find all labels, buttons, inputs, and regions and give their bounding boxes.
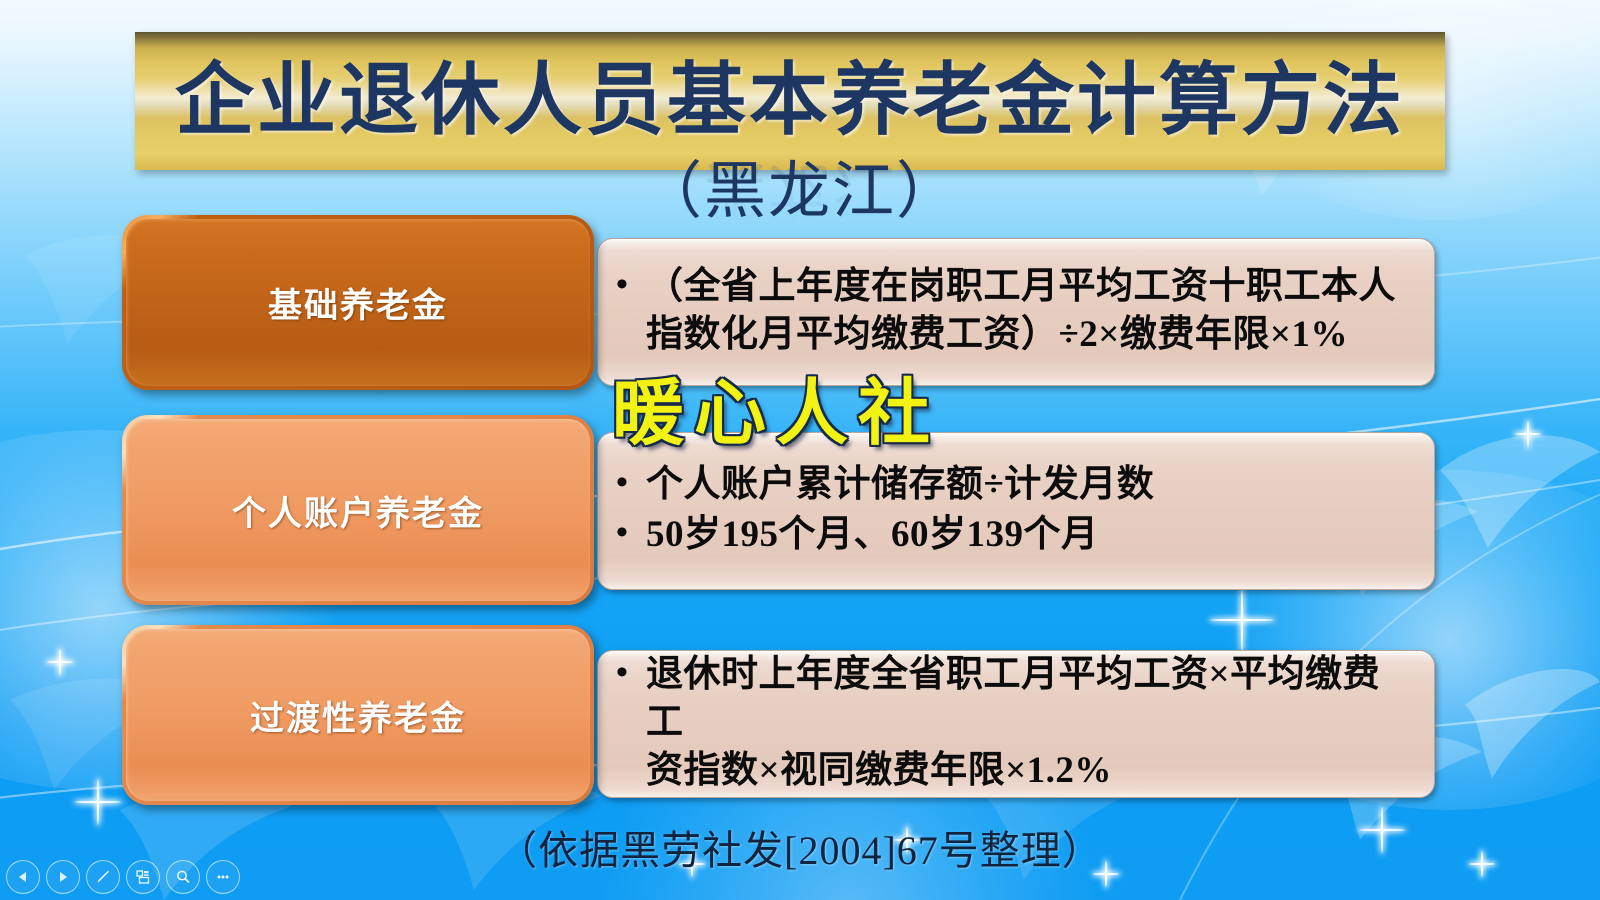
more-options-button[interactable] (206, 860, 240, 894)
bullet-list-row-3: 退休时上年度全省职工月平均工资×平均缴费工 资指数×视同缴费年限×1.2% (598, 651, 1434, 797)
label-box-transitional-pension[interactable]: 过渡性养老金 (122, 625, 594, 805)
next-slide-button[interactable] (46, 860, 80, 894)
grid-icon (134, 868, 152, 886)
bullet-item: 退休时上年度全省职工月平均工资×平均缴费工 资指数×视同缴费年限×1.2% (644, 651, 1410, 795)
label-box-personal-account-pension[interactable]: 个人账户养老金 (122, 415, 594, 605)
content-panel-row-1: （全省上年度在岗职工月平均工资十职工本人 指数化月平均缴费工资）÷2×缴费年限×… (597, 238, 1435, 386)
label-text: 过渡性养老金 (250, 691, 466, 740)
bullet-line: 个人账户累计储存额÷计发月数 (646, 464, 1154, 505)
bullet-item: 50岁195个月、60岁139个月 (644, 511, 1410, 559)
presentation-slide: 企业退休人员基本养老金计算方法 （黑龙江） （黑龙江） （全省上年度在岗职工月平… (0, 0, 1600, 900)
bullet-line: 退休时上年度全省职工月平均工资×平均缴费工 (646, 654, 1380, 743)
bullet-line-cont: 资指数×视同缴费年限×1.2% (646, 747, 1112, 795)
magnifier-icon (174, 868, 192, 886)
label-box-basic-pension[interactable]: 基础养老金 (122, 215, 594, 390)
slide-grid-button[interactable] (126, 860, 160, 894)
bullet-line: （全省上年度在岗职工月平均工资十职工本人 (646, 266, 1396, 307)
footnote: （依据黑劳社发[2004]67号整理） (0, 818, 1600, 876)
zoom-button[interactable] (166, 860, 200, 894)
triangle-left-icon (16, 870, 30, 884)
title-banner: 企业退休人员基本养老金计算方法 (135, 32, 1445, 170)
content-panel-row-3: 退休时上年度全省职工月平均工资×平均缴费工 资指数×视同缴费年限×1.2% (597, 650, 1435, 798)
previous-slide-button[interactable] (6, 860, 40, 894)
label-text: 个人账户养老金 (232, 486, 484, 535)
content-panel-row-2: 个人账户累计储存额÷计发月数 50岁195个月、60岁139个月 (597, 432, 1435, 590)
watermark: 暖心人社 (612, 378, 940, 450)
bullet-line: 50岁195个月、60岁139个月 (646, 514, 1099, 555)
bullet-line-cont: 指数化月平均缴费工资）÷2×缴费年限×1% (646, 311, 1348, 359)
bullet-item: （全省上年度在岗职工月平均工资十职工本人 指数化月平均缴费工资）÷2×缴费年限×… (644, 263, 1410, 359)
slideshow-toolbar (6, 860, 240, 894)
triangle-right-icon (56, 870, 70, 884)
bullet-list-row-2: 个人账户累计储存额÷计发月数 50岁195个月、60岁139个月 (598, 461, 1434, 561)
label-text: 基础养老金 (268, 278, 448, 327)
ellipsis-icon (214, 868, 232, 886)
bullet-item: 个人账户累计储存额÷计发月数 (644, 461, 1410, 509)
pen-icon (94, 868, 112, 886)
pen-tool-button[interactable] (86, 860, 120, 894)
page-title: 企业退休人员基本养老金计算方法 (175, 62, 1405, 141)
bullet-list-row-1: （全省上年度在岗职工月平均工资十职工本人 指数化月平均缴费工资）÷2×缴费年限×… (598, 263, 1434, 361)
